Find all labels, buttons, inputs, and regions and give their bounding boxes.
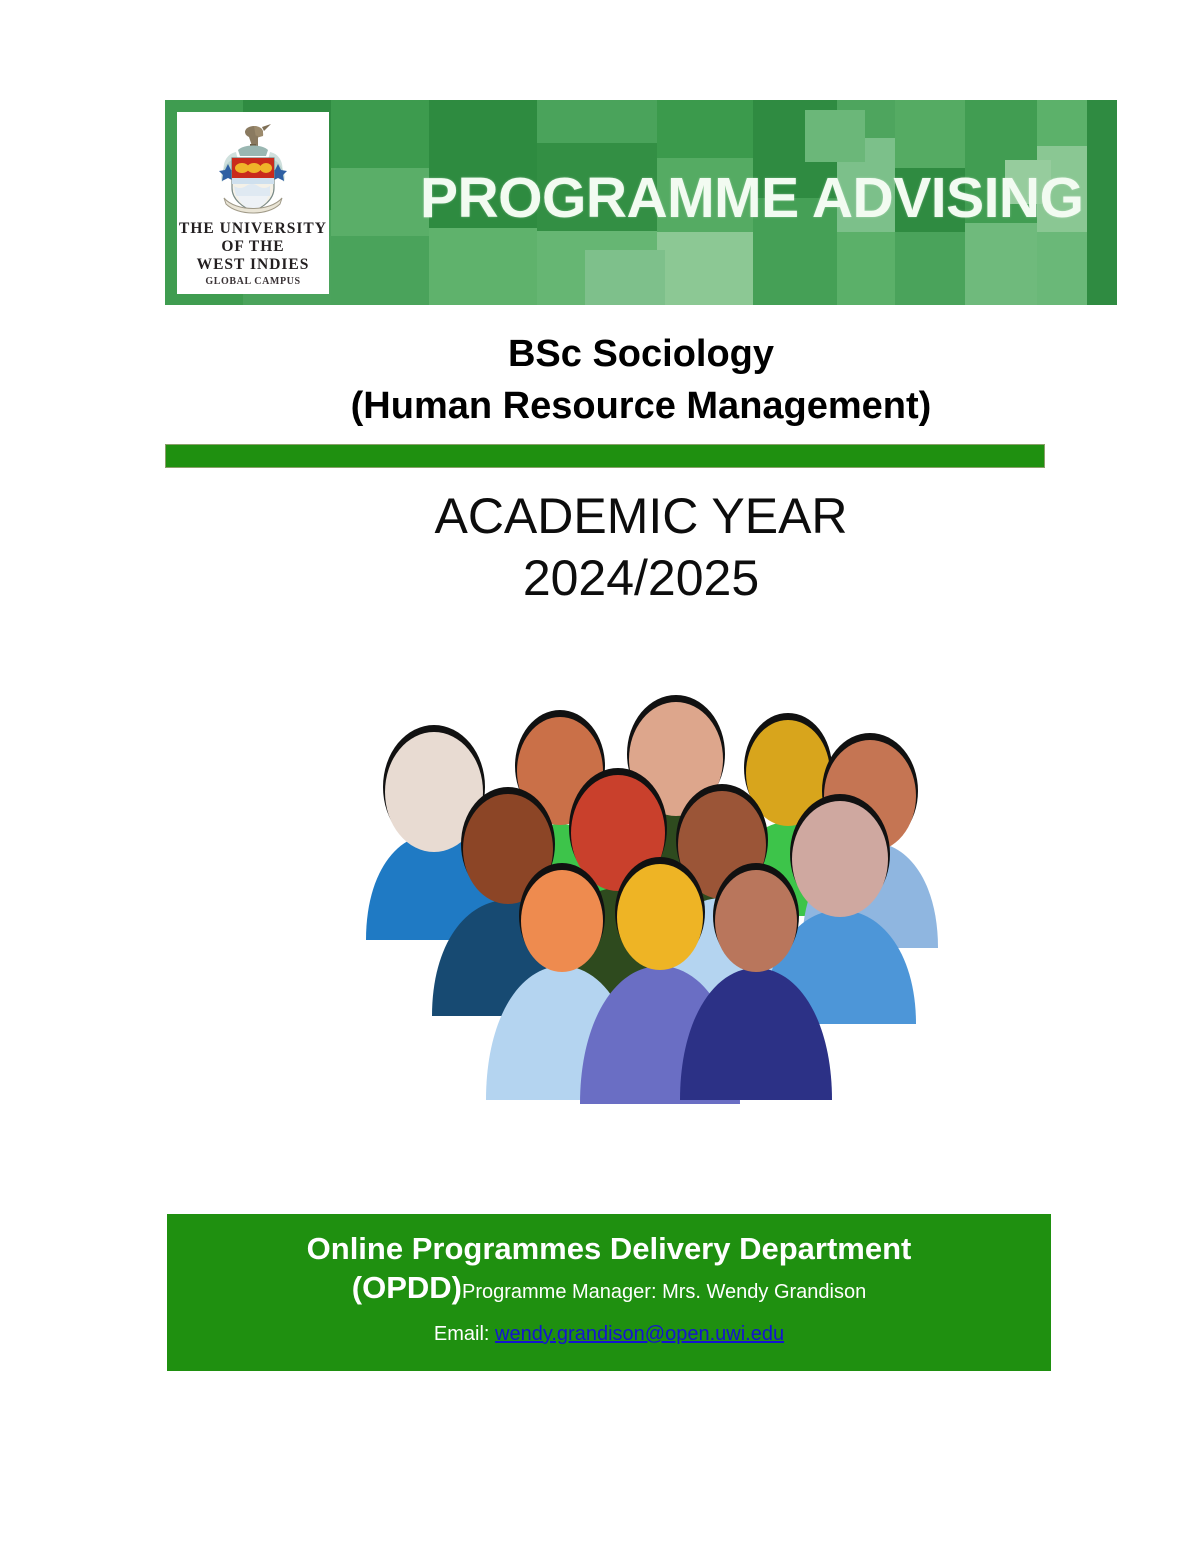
uwi-coat-of-arms-icon xyxy=(208,116,298,218)
logo-line-4: GLOBAL CAMPUS xyxy=(177,276,329,287)
page-title-line-1: BSc Sociology xyxy=(165,328,1117,380)
crowd-illustration xyxy=(350,648,944,1118)
crowd-people-icon xyxy=(350,648,944,1118)
academic-year-block: ACADEMIC YEAR 2024/2025 xyxy=(165,485,1117,609)
footer-contact-box: Online Programmes Delivery Department (O… xyxy=(167,1214,1051,1371)
academic-year-label: ACADEMIC YEAR xyxy=(165,485,1117,547)
footer-acronym: (OPDD) xyxy=(352,1270,462,1305)
cover-page: PROGRAMME ADVISING xyxy=(0,0,1200,1553)
logo-line-3: WEST INDIES xyxy=(177,256,329,274)
footer-email-label: Email: xyxy=(434,1323,495,1345)
academic-year-value: 2024/2025 xyxy=(165,547,1117,609)
footer-department-name: Online Programmes Delivery Department xyxy=(167,1229,1051,1269)
green-divider-bar xyxy=(165,444,1045,468)
uwi-logo: THE UNIVERSITY OF THE WEST INDIES GLOBAL… xyxy=(177,112,329,294)
page-title-line-2: (Human Resource Management) xyxy=(165,380,1117,432)
banner-title: PROGRAMME ADVISING xyxy=(420,163,1110,233)
footer-email-line: Email: wendy.grandison@open.uwi.edu xyxy=(167,1320,1051,1348)
page-title: BSc Sociology (Human Resource Management… xyxy=(165,328,1117,432)
logo-line-2: OF THE xyxy=(177,238,329,256)
logo-line-1: THE UNIVERSITY xyxy=(177,220,329,238)
footer-opdd-line: (OPDD)Programme Manager: Mrs. Wendy Gran… xyxy=(167,1270,1051,1312)
footer-email-link[interactable]: wendy.grandison@open.uwi.edu xyxy=(495,1323,784,1345)
footer-programme-manager: Programme Manager: Mrs. Wendy Grandison xyxy=(462,1281,866,1303)
